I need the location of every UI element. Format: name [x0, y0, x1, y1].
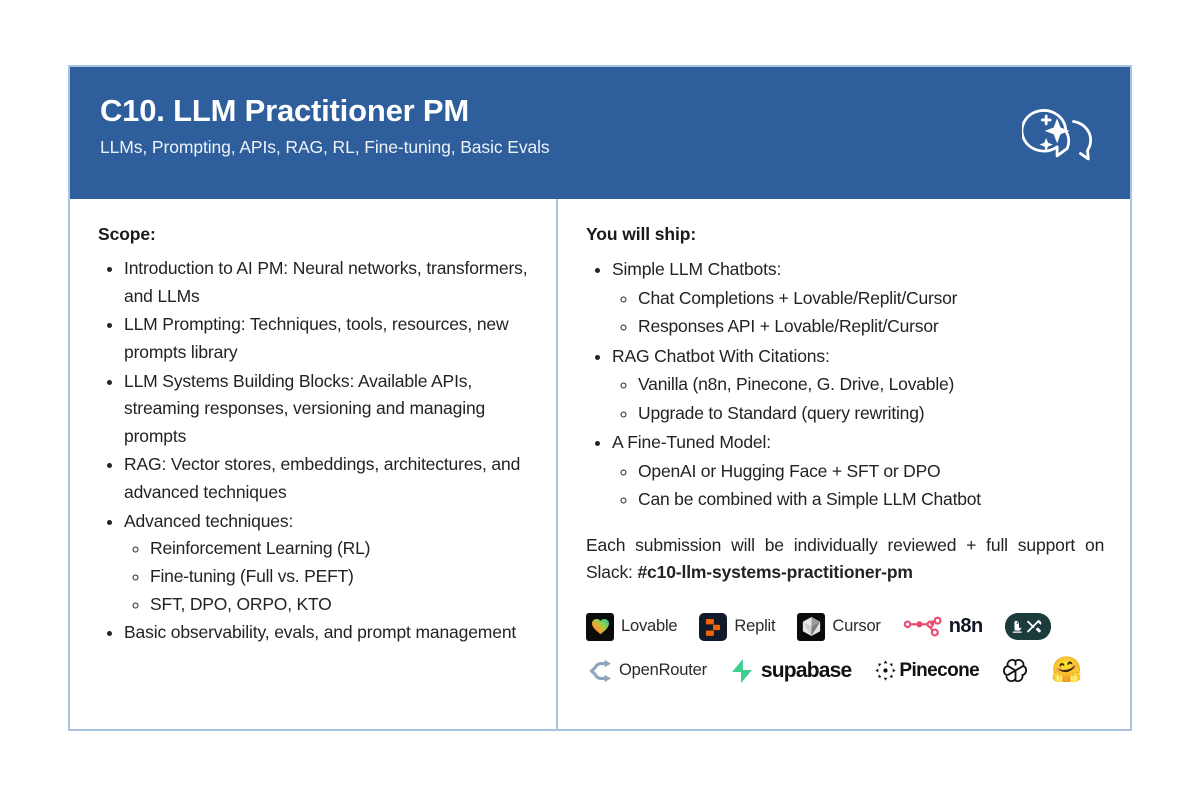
- list-item: OpenAI or Hugging Face + SFT or DPO: [638, 457, 1104, 486]
- tool-logo-row-1: Lovable Replit: [586, 608, 1104, 646]
- logo-n8n: n8n: [903, 615, 983, 639]
- tool-logos: Lovable Replit: [586, 608, 1104, 690]
- supabase-icon: [729, 657, 755, 685]
- list-item: Chat Completions + Lovable/Replit/Cursor: [638, 284, 1104, 313]
- list-item-text: Simple LLM Chatbots:: [612, 259, 781, 279]
- list-item: Upgrade to Standard (query rewriting): [638, 399, 1104, 428]
- logo-cursor: Cursor: [797, 613, 880, 641]
- submission-note: Each submission will be individually rev…: [586, 532, 1104, 586]
- openrouter-icon: [586, 658, 612, 684]
- logo-huggingface: 🤗: [1051, 658, 1082, 683]
- logo-label: Replit: [734, 617, 775, 636]
- logo-openrouter: OpenRouter: [586, 658, 707, 684]
- list-item: Fine-tuning (Full vs. PEFT): [150, 563, 530, 591]
- n8n-icon: [903, 615, 943, 639]
- logo-openai: [1001, 657, 1029, 685]
- logo-label: Cursor: [832, 617, 880, 636]
- hugging-face-icon: 🤗: [1051, 658, 1082, 683]
- list-item: RAG Chatbot With Citations: Vanilla (n8n…: [612, 342, 1104, 428]
- list-item-text: LLM Systems Building Blocks: Available A…: [124, 371, 485, 446]
- logo-label: Lovable: [621, 617, 677, 636]
- list-item: Advanced techniques: Reinforcement Learn…: [124, 508, 530, 619]
- list-item: Can be combined with a Simple LLM Chatbo…: [638, 485, 1104, 514]
- list-item: Reinforcement Learning (RL): [150, 535, 530, 563]
- list-item-text: Basic observability, evals, and prompt m…: [124, 622, 516, 642]
- card-header: C10. LLM Practitioner PM LLMs, Prompting…: [70, 67, 1130, 199]
- logo-langchain: [1005, 613, 1051, 640]
- course-card: C10. LLM Practitioner PM LLMs, Prompting…: [68, 65, 1132, 731]
- list-item: SFT, DPO, ORPO, KTO: [150, 591, 530, 619]
- ship-heading: You will ship:: [586, 224, 1104, 245]
- scope-list: Introduction to AI PM: Neural networks, …: [98, 255, 530, 647]
- logo-supabase: supabase: [729, 657, 851, 685]
- logo-label: OpenRouter: [619, 661, 707, 680]
- scope-sublist: Reinforcement Learning (RL) Fine-tuning …: [124, 535, 530, 618]
- list-item: Basic observability, evals, and prompt m…: [124, 619, 530, 647]
- list-item: LLM Systems Building Blocks: Available A…: [124, 368, 530, 451]
- list-item: Introduction to AI PM: Neural networks, …: [124, 255, 530, 310]
- logo-lovable: Lovable: [586, 613, 677, 641]
- replit-icon: [699, 613, 727, 641]
- list-item: Vanilla (n8n, Pinecone, G. Drive, Lovabl…: [638, 370, 1104, 399]
- list-item: LLM Prompting: Techniques, tools, resour…: [124, 311, 530, 366]
- page-title: C10. LLM Practitioner PM: [100, 93, 1100, 129]
- tool-logo-row-2: OpenRouter supabase: [586, 652, 1104, 690]
- scope-heading: Scope:: [98, 224, 530, 245]
- logo-label: Pinecone: [899, 660, 979, 682]
- ship-sublist: OpenAI or Hugging Face + SFT or DPO Can …: [612, 457, 1104, 514]
- list-item-text: A Fine-Tuned Model:: [612, 432, 771, 452]
- logo-pinecone: Pinecone: [873, 659, 979, 683]
- slack-channel: #c10-llm-systems-practitioner-pm: [637, 562, 912, 582]
- list-item-text: RAG: Vector stores, embeddings, architec…: [124, 454, 520, 502]
- page-subtitle: LLMs, Prompting, APIs, RAG, RL, Fine-tun…: [100, 137, 1100, 158]
- list-item: A Fine-Tuned Model: OpenAI or Hugging Fa…: [612, 428, 1104, 514]
- card-body: Scope: Introduction to AI PM: Neural net…: [70, 199, 1130, 729]
- list-item-text: Introduction to AI PM: Neural networks, …: [124, 258, 527, 306]
- scope-column: Scope: Introduction to AI PM: Neural net…: [70, 199, 556, 729]
- langchain-icon: [1005, 613, 1051, 640]
- list-item: Responses API + Lovable/Replit/Cursor: [638, 312, 1104, 341]
- ship-list: Simple LLM Chatbots: Chat Completions + …: [586, 255, 1104, 514]
- openai-icon: [1001, 657, 1029, 685]
- list-item: RAG: Vector stores, embeddings, architec…: [124, 451, 530, 506]
- lovable-icon: [586, 613, 614, 641]
- slide-page: C10. LLM Practitioner PM LLMs, Prompting…: [0, 0, 1200, 800]
- ship-sublist: Chat Completions + Lovable/Replit/Cursor…: [612, 284, 1104, 341]
- logo-label: n8n: [949, 615, 983, 638]
- list-item-text: RAG Chatbot With Citations:: [612, 346, 830, 366]
- list-item: Simple LLM Chatbots: Chat Completions + …: [612, 255, 1104, 341]
- chat-sparkle-icon: [1022, 95, 1100, 173]
- logo-label: supabase: [761, 659, 851, 683]
- pinecone-icon: [873, 659, 897, 683]
- list-item-text: Advanced techniques:: [124, 511, 293, 531]
- logo-replit: Replit: [699, 613, 775, 641]
- ship-column: You will ship: Simple LLM Chatbots: Chat…: [558, 199, 1130, 729]
- cursor-icon: [797, 613, 825, 641]
- ship-sublist: Vanilla (n8n, Pinecone, G. Drive, Lovabl…: [612, 370, 1104, 427]
- list-item-text: LLM Prompting: Techniques, tools, resour…: [124, 314, 508, 362]
